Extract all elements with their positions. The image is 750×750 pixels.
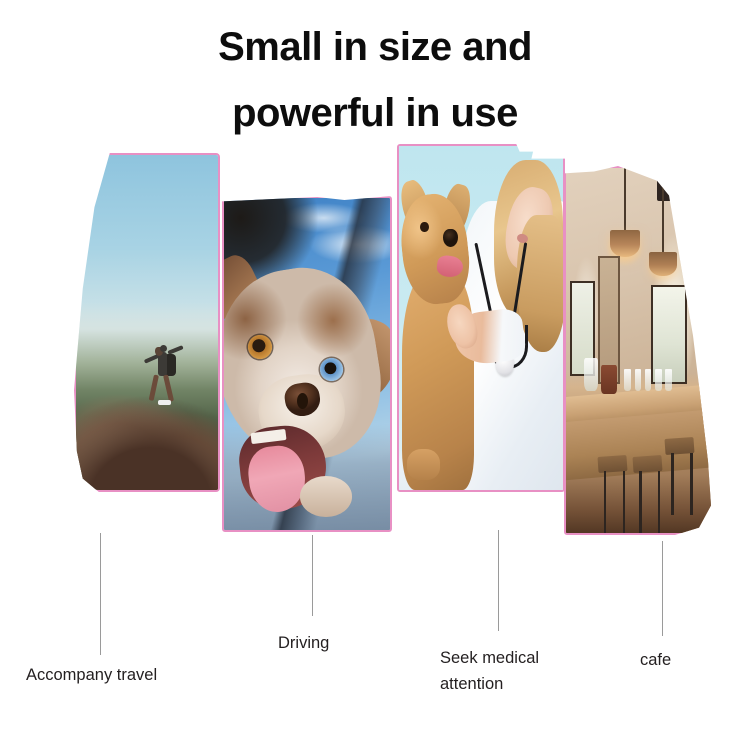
pendant-lamp-icon [610, 230, 641, 257]
leader-line-medical [498, 530, 499, 631]
scene-panel-seek-medical-attention [397, 144, 565, 492]
scene-panel-accompany-travel [74, 153, 220, 492]
leader-line-cafe [662, 541, 663, 636]
chihuahua-face [224, 264, 390, 516]
leader-line-driving [312, 535, 313, 616]
caption-driving: Driving [278, 630, 329, 656]
scene-panel-driving [222, 196, 392, 532]
promo-banner: Small in size and powerful in use [0, 0, 750, 750]
caption-accompany-travel: Accompany travel [26, 662, 157, 688]
photo-vet-with-dog [399, 146, 563, 490]
caption-seek-medical-attention: Seek medical attention [440, 645, 539, 697]
photo-hiker-on-summit [76, 155, 218, 490]
veterinarian-figure [399, 146, 563, 490]
page-title-line-2: powerful in use [0, 80, 750, 146]
photo-cafe-interior [566, 168, 712, 533]
scene-panel-cafe [564, 166, 714, 535]
caption-cafe: cafe [640, 647, 671, 673]
photo-dog-in-car-window [224, 198, 390, 530]
leader-line-accompany-travel [100, 533, 101, 655]
hiker-figure [141, 343, 185, 419]
page-title: Small in size and powerful in use [0, 14, 750, 146]
pendant-lamp-icon [649, 252, 677, 276]
page-title-line-1: Small in size and [0, 14, 750, 80]
